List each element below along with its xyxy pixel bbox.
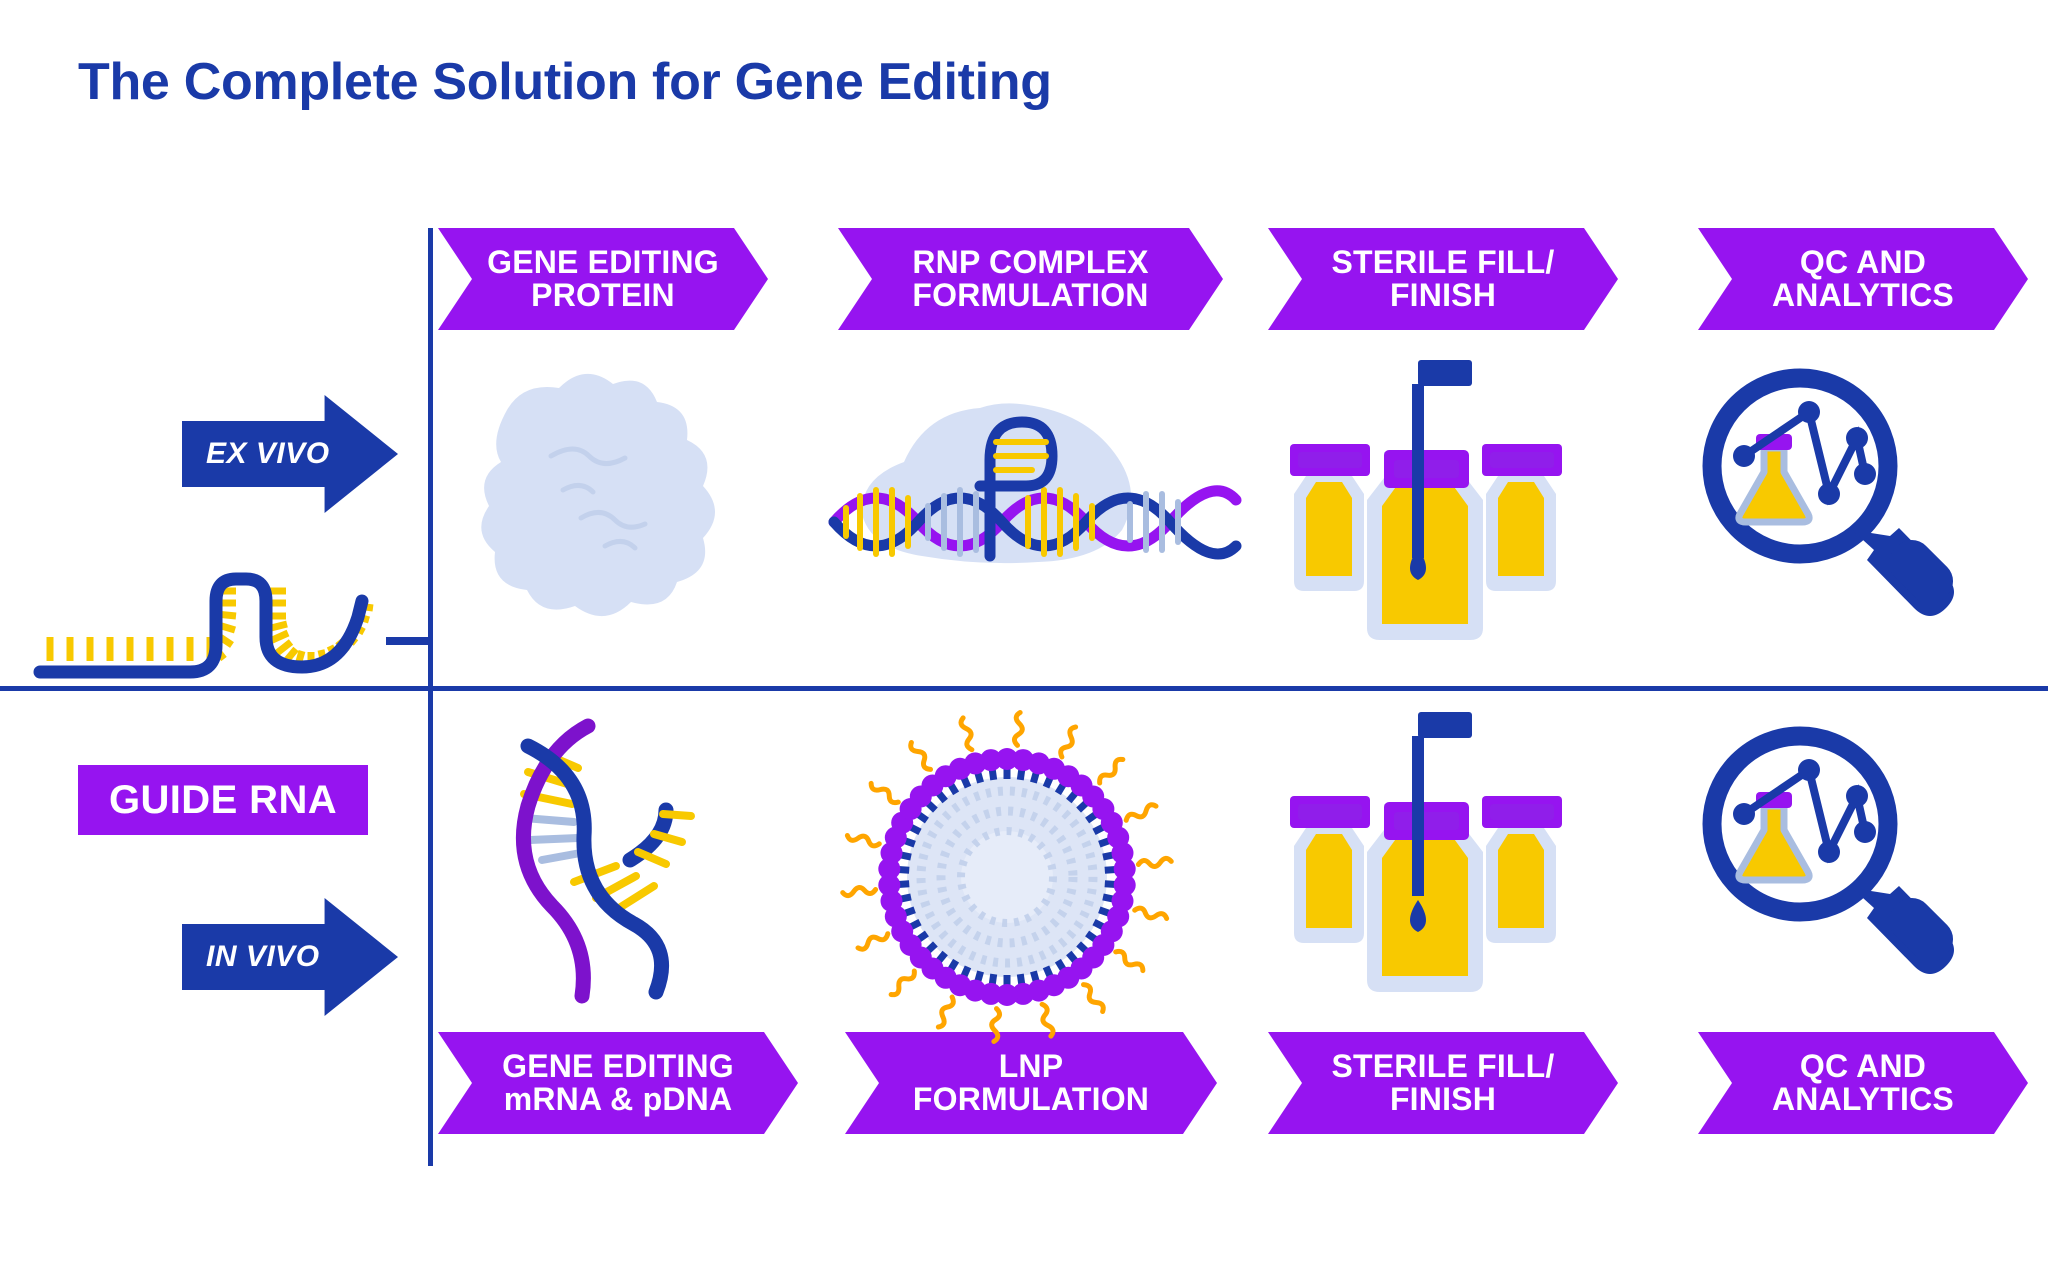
banner-line-2: mRNA & pDNA bbox=[502, 1083, 734, 1116]
banner-line-2: ANALYTICS bbox=[1772, 1083, 1954, 1116]
banner-line-2: FINISH bbox=[1331, 279, 1554, 312]
divider-vertical bbox=[428, 228, 433, 1166]
banner-gene-editing-mrna-pdna[interactable]: GENE EDITING mRNA & pDNA bbox=[438, 1032, 798, 1134]
magnifier-flask-chart-icon bbox=[1702, 372, 2032, 642]
guide-rna-strand-icon bbox=[30, 575, 430, 690]
banner-lnp-formulation[interactable]: LNP FORMULATION bbox=[845, 1032, 1217, 1134]
in-vivo-label: IN VIVO bbox=[182, 940, 320, 974]
ex-vivo-arrow[interactable]: EX VIVO bbox=[182, 395, 398, 513]
banner-line-2: ANALYTICS bbox=[1772, 279, 1954, 312]
banner-sterile-fill-finish-top[interactable]: STERILE FILL/ FINISH bbox=[1268, 228, 1618, 330]
banner-line-1: QC AND bbox=[1772, 1050, 1954, 1083]
banner-line-2: PROTEIN bbox=[487, 279, 719, 312]
banner-line-1: STERILE FILL/ bbox=[1331, 246, 1554, 279]
vials-fill-finish-icon bbox=[1272, 700, 1602, 1000]
banner-line-1: RNP COMPLEX bbox=[912, 246, 1148, 279]
banner-line-1: GENE EDITING bbox=[487, 246, 719, 279]
ex-vivo-label: EX VIVO bbox=[182, 437, 330, 471]
banner-line-2: FINISH bbox=[1331, 1083, 1554, 1116]
banner-line-1: GENE EDITING bbox=[502, 1050, 734, 1083]
in-vivo-arrow[interactable]: IN VIVO bbox=[182, 898, 398, 1016]
rnp-complex-icon bbox=[830, 390, 1240, 600]
lipid-nanoparticle-icon bbox=[862, 732, 1152, 1022]
banner-line-2: FORMULATION bbox=[912, 279, 1148, 312]
guide-rna-chip[interactable]: GUIDE RNA bbox=[78, 765, 368, 835]
guide-rna-label: GUIDE RNA bbox=[109, 778, 337, 823]
dna-helix-icon bbox=[470, 710, 730, 1010]
banner-sterile-fill-finish-bottom[interactable]: STERILE FILL/ FINISH bbox=[1268, 1032, 1618, 1134]
vials-fill-finish-icon bbox=[1272, 348, 1602, 648]
page-title: The Complete Solution for Gene Editing bbox=[78, 52, 1052, 112]
banner-line-1: STERILE FILL/ bbox=[1331, 1050, 1554, 1083]
banner-qc-and-analytics-bottom[interactable]: QC AND ANALYTICS bbox=[1698, 1032, 2028, 1134]
banner-line-1: QC AND bbox=[1772, 246, 1954, 279]
banner-line-1: LNP bbox=[913, 1050, 1149, 1083]
banner-gene-editing-protein[interactable]: GENE EDITING PROTEIN bbox=[438, 228, 768, 330]
protein-blob-icon bbox=[455, 350, 745, 640]
banner-qc-and-analytics-top[interactable]: QC AND ANALYTICS bbox=[1698, 228, 2028, 330]
banner-line-2: FORMULATION bbox=[913, 1083, 1149, 1116]
magnifier-flask-chart-icon bbox=[1702, 730, 2032, 1000]
banner-rnp-complex-formulation[interactable]: RNP COMPLEX FORMULATION bbox=[838, 228, 1223, 330]
